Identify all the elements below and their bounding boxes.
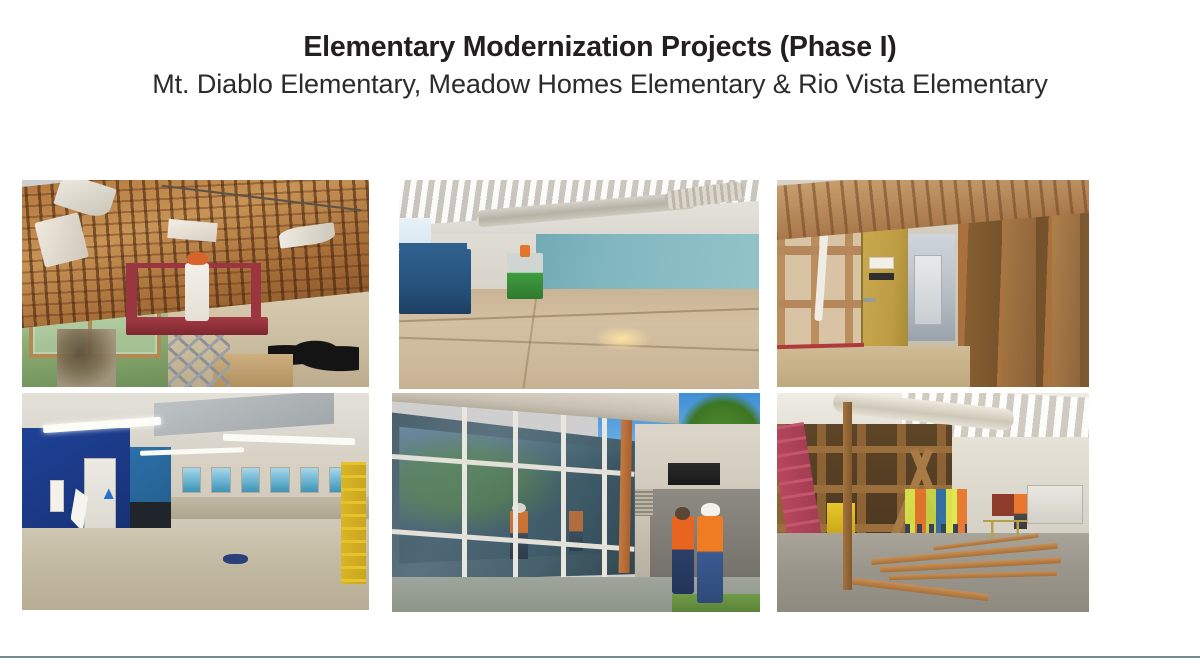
blue-equipment-bag (223, 554, 247, 565)
worker-hardhat (701, 503, 719, 516)
worker-figure (185, 263, 209, 321)
worker-orange-vest (672, 516, 694, 595)
worker-orange-vest (697, 516, 723, 604)
photo-5-scene (392, 393, 760, 612)
photo-1-scene (22, 180, 369, 387)
far-door (914, 255, 942, 325)
clerestory-window (270, 467, 289, 493)
lift-rail-right (251, 263, 261, 321)
scissor-lift-mechanism (168, 335, 230, 387)
photo-3-scene (777, 180, 1089, 387)
presentation-slide: Elementary Modernization Projects (Phase… (0, 0, 1200, 664)
clerestory-window (182, 467, 201, 493)
sunlight-spot (593, 326, 651, 351)
roof-opening (668, 463, 720, 485)
door-handle (863, 298, 875, 302)
photo-1-ceiling-demolition (22, 180, 369, 387)
photo-6-scene (777, 393, 1089, 612)
photo-4-scene (22, 393, 369, 610)
footer-divider (0, 656, 1200, 658)
blue-scissor-lift (399, 249, 471, 314)
photo-grid (0, 180, 1200, 612)
structural-post (843, 402, 852, 590)
page-subtitle: Mt. Diablo Elementary, Meadow Homes Elem… (60, 67, 1140, 101)
door-sign-white (869, 257, 894, 269)
window-mullion (602, 402, 607, 586)
tan-corridor-door (861, 226, 908, 354)
wall-control-panel (50, 480, 64, 513)
clerestory-window (300, 467, 319, 493)
clerestory-window (211, 467, 230, 493)
yellow-ladder (341, 462, 365, 584)
lift-rail-left (126, 263, 136, 321)
photo-3-stud-framing-door (777, 180, 1089, 387)
bare-concrete-floor (22, 528, 369, 610)
worker-figure (520, 245, 531, 258)
photo-2-teal-classroom (399, 180, 759, 389)
page-title: Elementary Modernization Projects (Phase… (60, 30, 1140, 65)
photo-6-framing-walkthrough (777, 393, 1089, 612)
photo-2-scene (399, 180, 759, 389)
window-mullion (462, 402, 467, 586)
window-mullion (513, 402, 518, 586)
worker-hardhat (187, 252, 208, 264)
photo-5-exterior-crew (392, 393, 760, 612)
window-mullion (561, 402, 566, 586)
wall-board-panel (1027, 485, 1083, 524)
clerestory-window (241, 467, 260, 493)
photo-4-blue-wall-classroom (22, 393, 369, 610)
worker-head (675, 507, 690, 520)
subfloor (777, 346, 970, 387)
door-sign-dark (869, 273, 894, 280)
wall-damage-patch (57, 329, 116, 387)
wall-ledge (171, 497, 369, 519)
green-scissor-lift (507, 253, 543, 299)
wall-vent (635, 489, 653, 515)
title-block: Elementary Modernization Projects (Phase… (60, 30, 1140, 101)
